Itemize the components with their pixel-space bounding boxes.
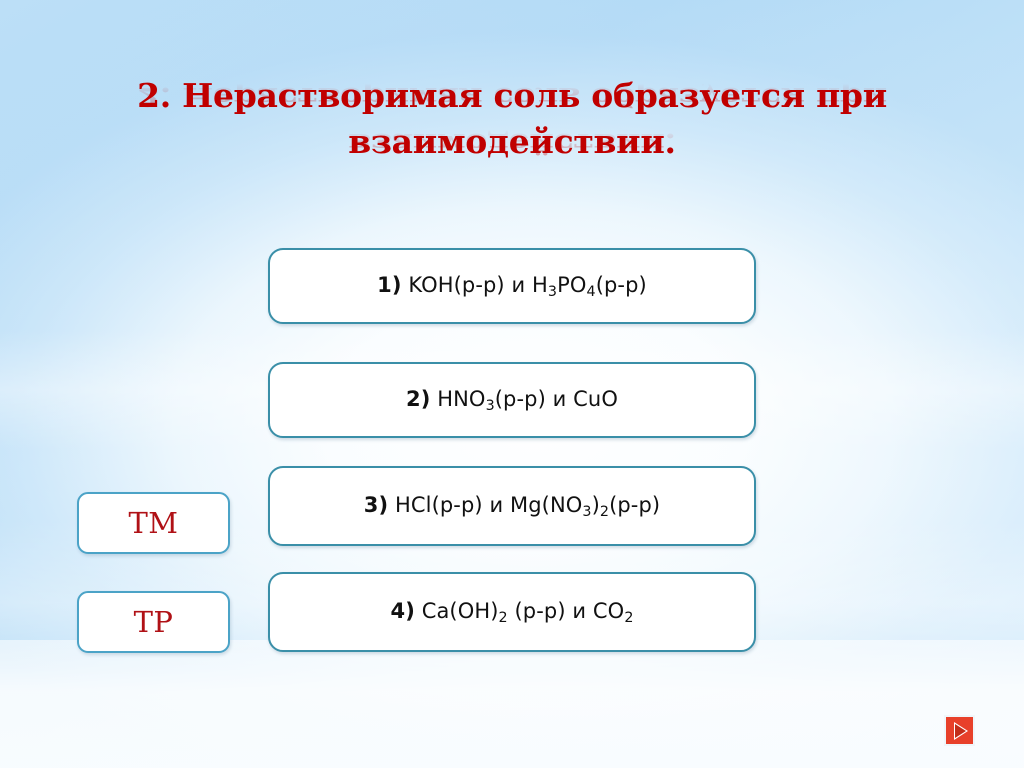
play-triangle-icon — [954, 722, 968, 740]
title-line-1: 2. Нерастворимая соль образуется при — [120, 76, 904, 116]
side-button-tm-label: ТМ — [128, 506, 178, 540]
side-button-tm[interactable]: ТМ — [77, 492, 230, 554]
answer-option-3[interactable]: 3) HCl(р-р) и Mg(NO3)2(р-р) — [268, 466, 756, 546]
answer-option-2[interactable]: 2) HNO3(р-р) и CuO — [268, 362, 756, 438]
answer-option-2-number: 2) — [406, 387, 430, 411]
title-line-2: взаимодействии. — [120, 122, 904, 162]
background-light-band-bottom — [0, 640, 1024, 768]
answer-option-4-formula: Ca(OH)2 (р-р) и CO2 — [422, 599, 634, 623]
answer-option-3-formula: HCl(р-р) и Mg(NO3)2(р-р) — [395, 493, 660, 517]
answer-option-1-formula: KOH(р-р) и H3PO4(р-р) — [408, 273, 646, 297]
side-button-tp[interactable]: ТР — [77, 591, 230, 653]
answer-option-2-formula: HNO3(р-р) и CuO — [437, 387, 618, 411]
answer-option-3-number: 3) — [364, 493, 388, 517]
answer-option-1[interactable]: 1) KOH(р-р) и H3PO4(р-р) — [268, 248, 756, 324]
next-slide-button[interactable] — [944, 715, 975, 746]
answer-option-2-text: 2) HNO3(р-р) и CuO — [406, 387, 618, 414]
slide-canvas: 2. Нерастворимая соль образуется при 2. … — [0, 0, 1024, 768]
answer-option-4-number: 4) — [390, 599, 414, 623]
title-line-1-wrap: 2. Нерастворимая соль образуется при 2. … — [120, 76, 904, 122]
answer-option-3-text: 3) HCl(р-р) и Mg(NO3)2(р-р) — [364, 493, 660, 520]
answer-option-4-text: 4) Ca(OH)2 (р-р) и CO2 — [390, 599, 633, 626]
title-line-2-wrap: взаимодействии. взаимодействии. — [120, 122, 904, 168]
side-button-tp-label: ТР — [134, 605, 174, 639]
answer-option-1-text: 1) KOH(р-р) и H3PO4(р-р) — [377, 273, 647, 300]
answer-option-4[interactable]: 4) Ca(OH)2 (р-р) и CO2 — [268, 572, 756, 652]
answer-option-1-number: 1) — [377, 273, 401, 297]
slide-title: 2. Нерастворимая соль образуется при 2. … — [120, 76, 904, 168]
